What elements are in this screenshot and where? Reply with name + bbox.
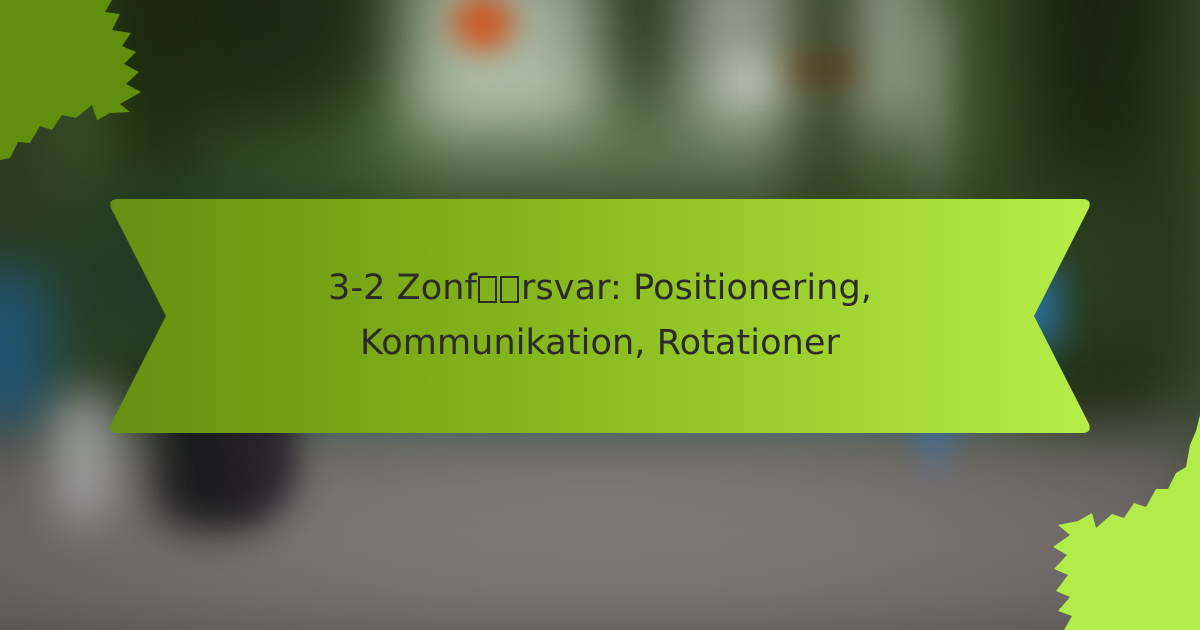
missing-glyph-box-1 — [478, 276, 497, 303]
banner-text-block: 3-2 Zonfrsvar: Positionering, Kommunikat… — [108, 197, 1092, 435]
missing-glyph-box-2 — [500, 276, 519, 303]
title-card: 3-2 Zonfrsvar: Positionering, Kommunikat… — [0, 0, 1200, 630]
title-banner: 3-2 Zonfrsvar: Positionering, Kommunikat… — [108, 197, 1092, 435]
title-line-1-before: 3-2 Zonf — [328, 268, 477, 308]
title-line-1-after: rsvar: Positionering, — [521, 268, 872, 308]
title-line-2: Kommunikation, Rotationer — [360, 316, 840, 371]
title-line-1: 3-2 Zonfrsvar: Positionering, — [328, 261, 872, 316]
